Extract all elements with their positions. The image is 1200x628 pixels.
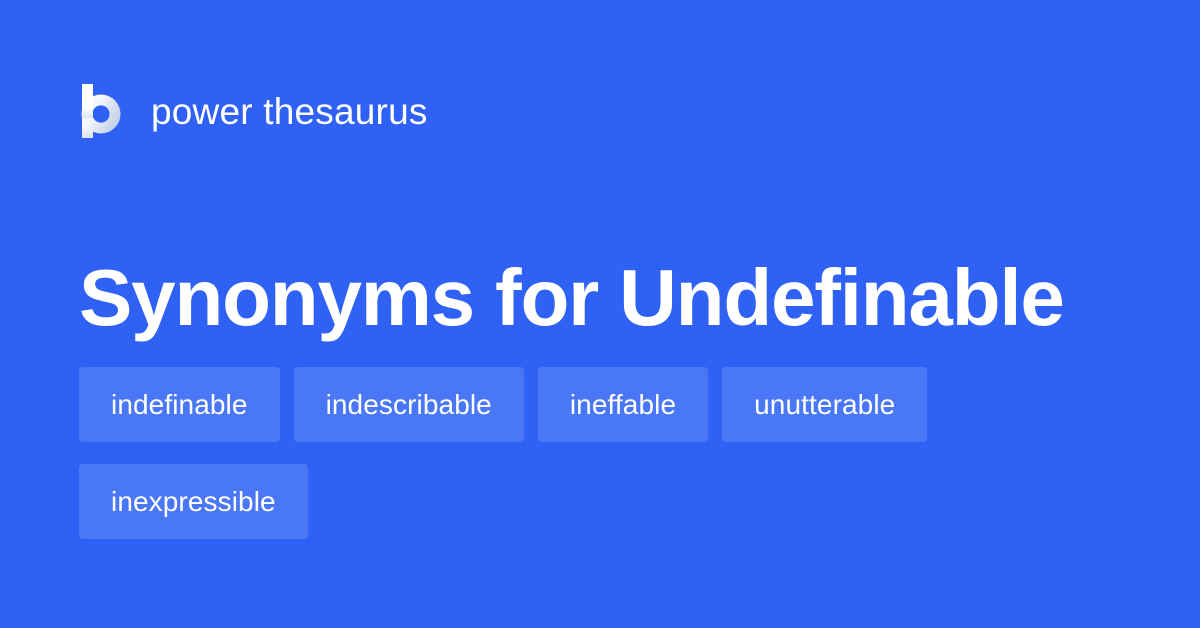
synonym-chip[interactable]: ineffable: [538, 367, 708, 442]
headline-prefix: Synonyms for: [79, 253, 619, 342]
brand-name: power thesaurus: [151, 93, 428, 130]
synonym-chip[interactable]: indefinable: [79, 367, 280, 442]
share-card: power thesaurus Synonyms for Undefinable…: [0, 0, 1200, 628]
headline-term: Undefinable: [619, 253, 1064, 342]
synonym-chip[interactable]: unutterable: [722, 367, 927, 442]
page-title: Synonyms for Undefinable: [79, 250, 1139, 346]
synonym-chip[interactable]: inexpressible: [79, 464, 308, 539]
synonym-chip-list: indefinable indescribable ineffable unut…: [79, 367, 1124, 539]
brand-logo[interactable]: power thesaurus: [79, 82, 428, 140]
power-thesaurus-b-mark-icon: [79, 84, 125, 138]
synonym-chip[interactable]: indescribable: [294, 367, 524, 442]
